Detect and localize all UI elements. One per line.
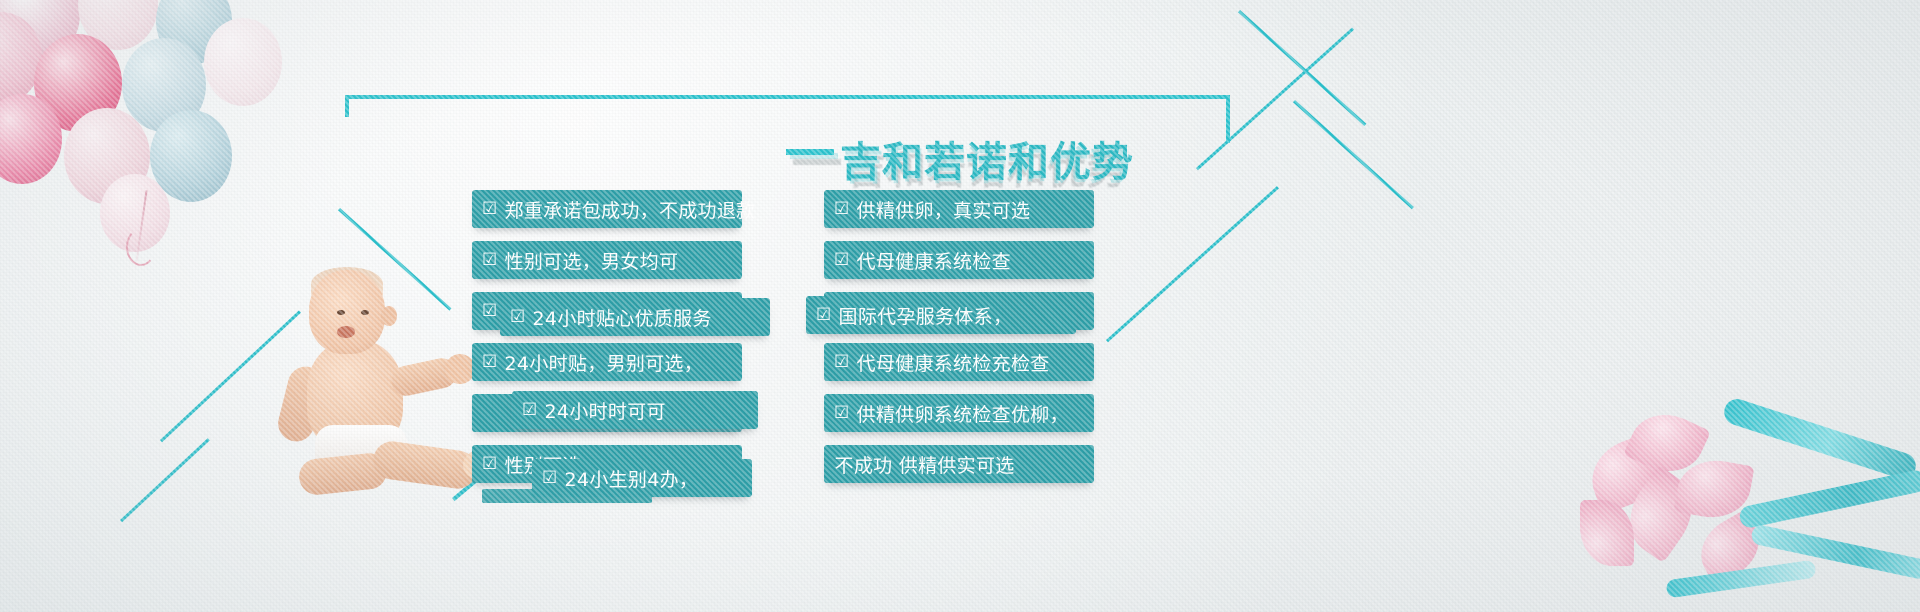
- balloon-string-curl: [126, 228, 156, 266]
- title-dash: [786, 149, 834, 155]
- benefit-item[interactable]: ☑ 郑重承诺包成功，不成功退款: [472, 190, 742, 228]
- benefit-label: 性别可选，男女均可: [505, 247, 679, 274]
- benefit-label: 代母健康系统检查: [857, 247, 1011, 274]
- benefit-label: 24小时贴，男别可选，: [505, 349, 703, 376]
- benefits-right-column: ☑ 供精供卵，真实可选 ☑ 代母健康系统检查 ☑ 国际代孕服务体系， ☑ 国际代…: [824, 190, 1124, 496]
- benefit-item-glitch-duplicate: ☑ 24小时贴心优质服务: [500, 298, 770, 336]
- check-icon: ☑: [482, 456, 498, 473]
- benefit-label: 代母健康系统检充检查: [857, 349, 1050, 376]
- benefit-item-glitch-duplicate: ☑ 国际代孕服务体系，: [806, 296, 1076, 334]
- page-title: 吉和若诺和优势: [0, 128, 1920, 188]
- check-icon: ☑: [834, 405, 850, 422]
- check-icon: ☑: [482, 252, 498, 269]
- check-icon: ☑: [834, 252, 850, 269]
- check-icon: ☑: [816, 307, 832, 324]
- benefit-label: 不成功 供精供实可选: [835, 451, 1015, 478]
- banner-canvas: 吉和若诺和优势 吉和若诺和优势 吉和若诺和优势 ☑ 郑重承诺包成功，不成功退款 …: [0, 0, 1920, 612]
- benefit-item[interactable]: ☑ 代母健康系统检查: [824, 241, 1094, 279]
- check-icon: ☑: [510, 309, 526, 326]
- flower-ribbon-decoration: [1570, 402, 1920, 612]
- benefit-label-ghost: 国际代孕服务体系，: [839, 302, 1013, 329]
- check-icon: ☑: [482, 354, 498, 371]
- benefit-item-glitch-duplicate: ☑ 24小时时可可: [512, 391, 758, 429]
- benefit-label-ghost: 24小生别4办，: [565, 465, 699, 492]
- benefit-item[interactable]: ☑ 24小时贴，男别可选，: [472, 343, 742, 381]
- baby-photo: [285, 270, 485, 515]
- benefit-label: 供精供卵系统检查优柳，: [857, 400, 1069, 427]
- benefit-item[interactable]: ☑ 性别可选，男女均可: [472, 241, 742, 279]
- benefit-item[interactable]: ☑ 代母健康系统检充检查: [824, 343, 1094, 381]
- frame-top-edge: [345, 95, 1230, 99]
- benefit-label: 郑重承诺包成功，不成功退款: [505, 196, 756, 223]
- benefits-left-column: ☑ 郑重承诺包成功，不成功退款 ☑ 性别可选，男女均可 ☑ 24小时贴心优质服务…: [472, 190, 772, 496]
- benefit-item[interactable]: ☑ 国际代孕服务体系， ☑ 国际代孕服务体系，: [824, 292, 1094, 330]
- benefit-item[interactable]: ☑ 24. ☑ 24小时时可可: [472, 394, 742, 432]
- benefit-item[interactable]: ☑ 供精供卵系统检查优柳，: [824, 394, 1094, 432]
- page-title-text: 吉和若诺和优势: [840, 128, 1134, 188]
- check-icon: ☑: [482, 303, 498, 320]
- check-icon: ☑: [834, 201, 850, 218]
- check-icon: ☑: [542, 470, 558, 487]
- benefit-item[interactable]: ☑ 性别可选 ☑ 24小生别4办，: [472, 445, 742, 483]
- benefit-item[interactable]: ☑ 供精供卵，真实可选: [824, 190, 1094, 228]
- benefit-label: 24小时时可可: [545, 397, 666, 424]
- benefit-smear-artifact: [482, 489, 652, 503]
- benefit-item[interactable]: ☑ 不成功 供精供实可选: [824, 445, 1094, 483]
- check-icon: ☑: [522, 402, 538, 419]
- check-icon: ☑: [834, 354, 850, 371]
- benefit-label-ghost: 24小时贴心优质服务: [533, 304, 712, 331]
- benefit-item[interactable]: ☑ 24小时贴心优质服务 ☑ 24小时贴心优质服务: [472, 292, 742, 330]
- benefit-label: 供精供卵，真实可选: [857, 196, 1031, 223]
- check-icon: ☑: [482, 201, 498, 218]
